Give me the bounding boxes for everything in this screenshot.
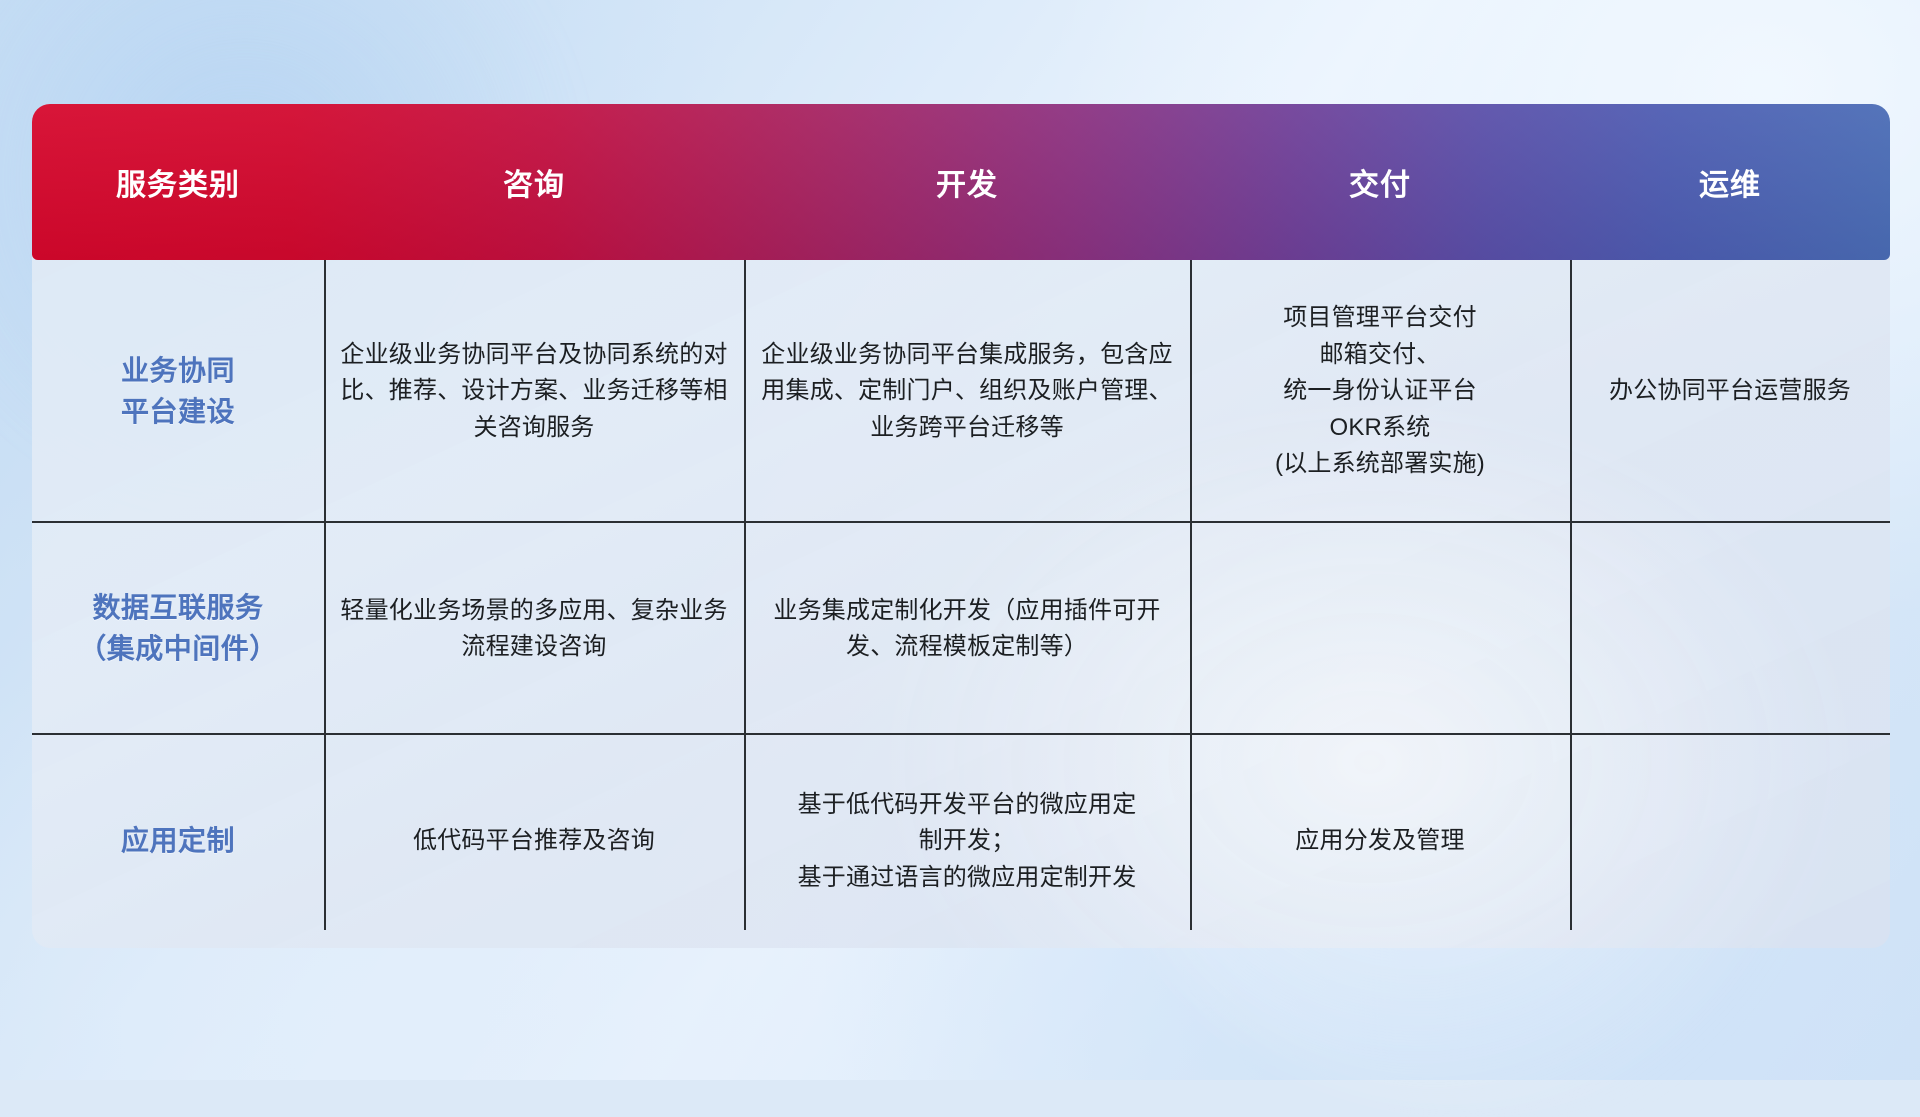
cell-text: 办公协同平台运营服务 bbox=[1609, 373, 1851, 409]
table-body: 业务协同平台建设 企业级业务协同平台及协同系统的对比、推荐、设计方案、业务迁移等… bbox=[32, 260, 1890, 948]
cell-development: 企业级业务协同平台集成服务，包含应用集成、定制门户、组织及账户管理、业务跨平台迁… bbox=[744, 260, 1190, 523]
cell-text: 低代码平台推荐及咨询 bbox=[413, 823, 655, 859]
cell-operations bbox=[1570, 735, 1890, 948]
column-header-operations: 运维 bbox=[1570, 160, 1890, 204]
cell-consulting: 企业级业务协同平台及协同系统的对比、推荐、设计方案、业务迁移等相关咨询服务 bbox=[324, 260, 744, 523]
category-label: 应用定制 bbox=[121, 821, 235, 862]
table-header-row: 服务类别 咨询 开发 交付 运维 bbox=[32, 104, 1890, 260]
row-category-cell: 业务协同平台建设 bbox=[32, 260, 324, 523]
cell-delivery: 应用分发及管理 bbox=[1190, 735, 1570, 948]
row-category-cell: 数据互联服务（集成中间件） bbox=[32, 523, 324, 735]
table-row: 应用定制 低代码平台推荐及咨询 基于低代码开发平台的微应用定制开发；基于通过语言… bbox=[32, 735, 1890, 948]
category-label: 业务协同平台建设 bbox=[121, 351, 235, 432]
cell-development: 业务集成定制化开发（应用插件可开发、流程模板定制等） bbox=[744, 523, 1190, 735]
cell-consulting: 轻量化业务场景的多应用、复杂业务流程建设咨询 bbox=[324, 523, 744, 735]
table-row: 业务协同平台建设 企业级业务协同平台及协同系统的对比、推荐、设计方案、业务迁移等… bbox=[32, 260, 1890, 523]
cell-operations: 办公协同平台运营服务 bbox=[1570, 260, 1890, 523]
row-category-cell: 应用定制 bbox=[32, 735, 324, 948]
column-header-development: 开发 bbox=[744, 160, 1190, 204]
column-header-consulting: 咨询 bbox=[324, 160, 744, 204]
cell-consulting: 低代码平台推荐及咨询 bbox=[324, 735, 744, 948]
service-matrix-table: 服务类别 咨询 开发 交付 运维 业务协同平台建设 企业级业务协同平台及协同系统… bbox=[32, 104, 1890, 948]
cell-text: 业务集成定制化开发（应用插件可开发、流程模板定制等） bbox=[756, 593, 1178, 666]
cell-operations bbox=[1570, 523, 1890, 735]
cell-text: 企业级业务协同平台及协同系统的对比、推荐、设计方案、业务迁移等相关咨询服务 bbox=[336, 337, 732, 446]
column-header-delivery: 交付 bbox=[1190, 160, 1570, 204]
cell-text: 轻量化业务场景的多应用、复杂业务流程建设咨询 bbox=[336, 593, 732, 666]
cell-development: 基于低代码开发平台的微应用定制开发；基于通过语言的微应用定制开发 bbox=[744, 735, 1190, 948]
cell-delivery bbox=[1190, 523, 1570, 735]
cell-text: 基于低代码开发平台的微应用定制开发；基于通过语言的微应用定制开发 bbox=[798, 787, 1137, 896]
category-label: 数据互联服务（集成中间件） bbox=[78, 588, 278, 669]
column-header-category: 服务类别 bbox=[32, 160, 324, 204]
cell-delivery: 项目管理平台交付邮箱交付、统一身份认证平台OKR系统(以上系统部署实施) bbox=[1190, 260, 1570, 523]
table-row: 数据互联服务（集成中间件） 轻量化业务场景的多应用、复杂业务流程建设咨询 业务集… bbox=[32, 523, 1890, 735]
cell-text: 企业级业务协同平台集成服务，包含应用集成、定制门户、组织及账户管理、业务跨平台迁… bbox=[756, 337, 1178, 446]
cell-text: 项目管理平台交付邮箱交付、统一身份认证平台OKR系统(以上系统部署实施) bbox=[1275, 300, 1485, 482]
cell-text: 应用分发及管理 bbox=[1295, 823, 1464, 859]
